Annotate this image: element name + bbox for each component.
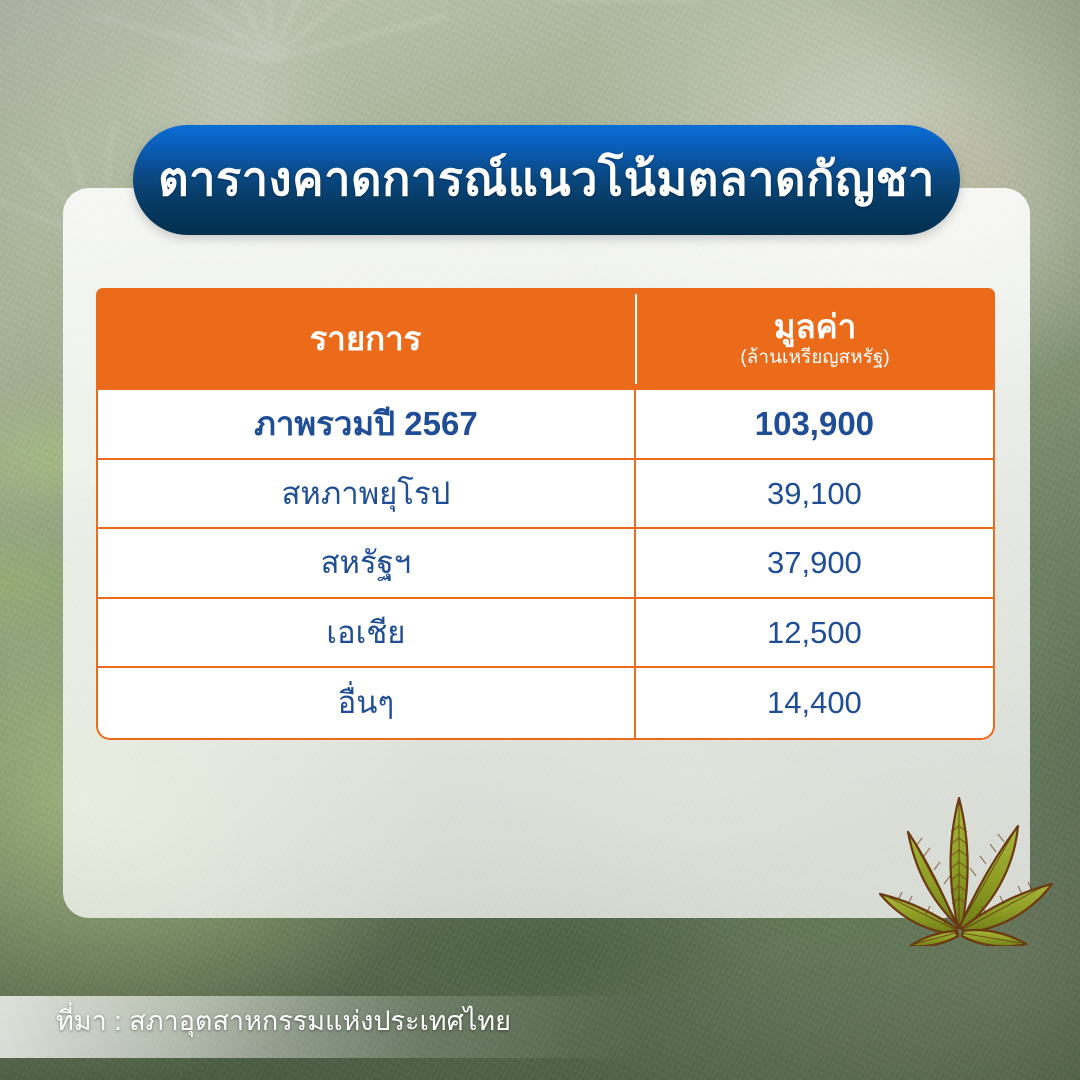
column-header-item-label: รายการ <box>310 321 422 357</box>
title-banner: ตารางคาดการณ์แนวโน้มตลาดกัญชา <box>133 125 960 235</box>
row-value: 103,900 <box>755 407 874 440</box>
table-cell-value: 14,400 <box>636 668 993 738</box>
forecast-table: รายการ มูลค่า (ล้านเหรียญสหรัฐ) ภาพรวมปี… <box>96 288 995 740</box>
row-value: 37,900 <box>767 547 862 578</box>
table-cell-value: 12,500 <box>636 599 993 667</box>
table-header-cell-value: มูลค่า (ล้านเหรียญสหรัฐ) <box>635 288 995 390</box>
table-row: อื่นๆ 14,400 <box>98 668 993 738</box>
table-row: เอเชีย 12,500 <box>98 599 993 669</box>
cannabis-leaf-icon <box>872 786 1062 946</box>
table-cell-item: สหรัฐฯ <box>98 529 634 597</box>
row-value: 39,100 <box>767 478 862 509</box>
row-label: สหรัฐฯ <box>321 547 412 578</box>
table-header-row: รายการ มูลค่า (ล้านเหรียญสหรัฐ) <box>96 288 995 390</box>
column-header-value-unit: (ล้านเหรียญสหรัฐ) <box>740 348 889 369</box>
table-cell-item: ภาพรวมปี 2567 <box>98 390 634 458</box>
table-header-cell-item: รายการ <box>96 288 635 390</box>
row-label: เอเชีย <box>326 617 405 648</box>
row-value: 14,400 <box>767 687 862 718</box>
table-cell-value: 103,900 <box>636 390 993 458</box>
source-text: ที่มา : สภาอุตสาหกรรมแห่งประเทศไทย <box>56 1008 511 1035</box>
table-cell-item: เอเชีย <box>98 599 634 667</box>
header-column-divider <box>635 294 637 384</box>
table-body: ภาพรวมปี 2567 103,900 สหภาพยุโรป 39,100 … <box>96 390 995 740</box>
row-value: 12,500 <box>767 617 862 648</box>
table-row: สหรัฐฯ 37,900 <box>98 529 993 599</box>
column-header-value-label: มูลค่า <box>774 309 857 345</box>
table-row: สหภาพยุโรป 39,100 <box>98 460 993 530</box>
table-cell-item: อื่นๆ <box>98 668 634 738</box>
table-cell-value: 39,100 <box>636 460 993 528</box>
row-label: สหภาพยุโรป <box>282 478 451 509</box>
page-title: ตารางคาดการณ์แนวโน้มตลาดกัญชา <box>158 155 935 206</box>
table-row: ภาพรวมปี 2567 103,900 <box>98 390 993 460</box>
row-label: ภาพรวมปี 2567 <box>254 407 478 440</box>
row-label: อื่นๆ <box>338 687 394 718</box>
table-cell-value: 37,900 <box>636 529 993 597</box>
table-cell-item: สหภาพยุโรป <box>98 460 634 528</box>
